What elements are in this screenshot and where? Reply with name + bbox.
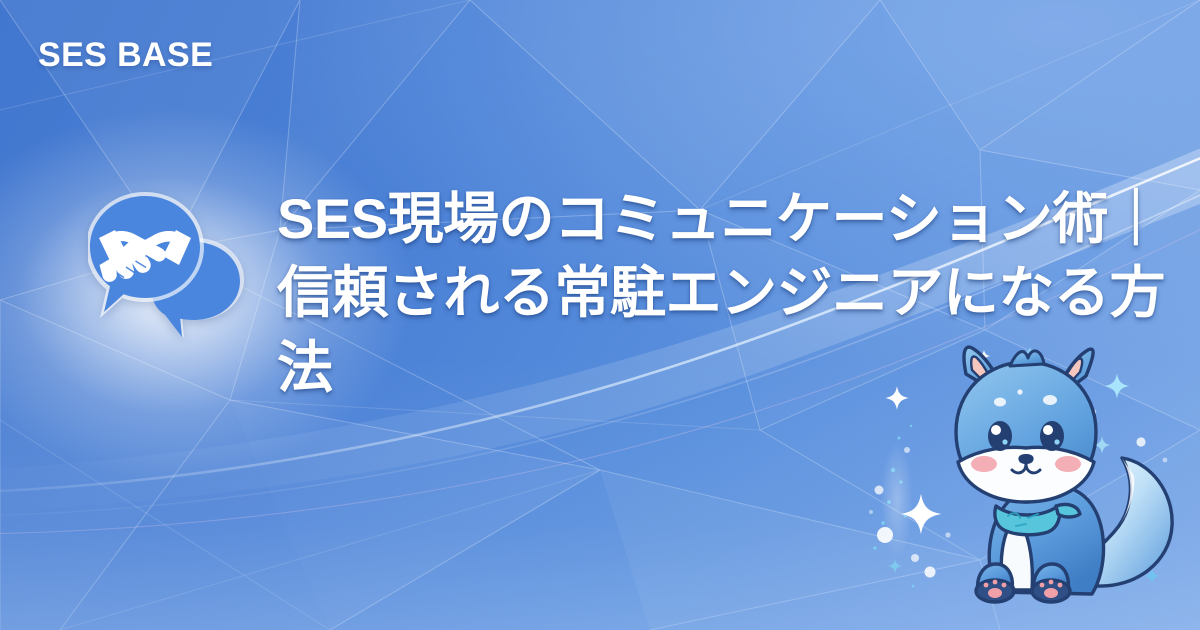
brand-wordmark: SES BASE [38,36,213,75]
blue-fox-mascot [900,336,1190,626]
handshake-speech-bubble-icon [88,186,254,352]
og-card: SES BASE [0,0,1200,630]
